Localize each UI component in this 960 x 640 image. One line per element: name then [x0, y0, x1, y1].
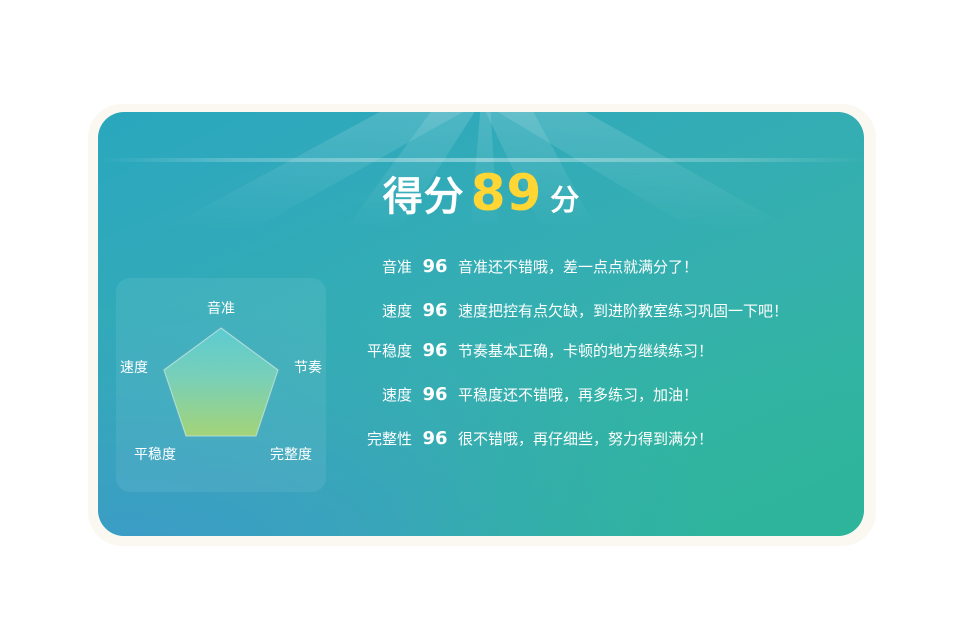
radar-axis-label-rhythm: 节奏 [294, 361, 322, 375]
metric-row: 音准 96 音准还不错哦，差一点点就满分了！ [350, 254, 850, 280]
metric-score: 96 [412, 254, 458, 280]
metric-score: 96 [412, 298, 458, 324]
metric-comment: 很不错哦，再仔细些，努力得到满分！ [458, 426, 850, 452]
metric-name: 完整性 [350, 426, 412, 452]
metric-score: 96 [412, 426, 458, 452]
radar-chart-panel: 音准 节奏 完整度 平稳度 速度 [116, 278, 326, 492]
metric-name: 速度 [350, 298, 412, 324]
metric-comment: 节奏基本正确，卡顿的地方继续练习！ [458, 338, 850, 364]
metric-comment: 速度把控有点欠缺，到进阶教室练习巩固一下吧！ [458, 298, 850, 324]
score-unit: 分 [550, 183, 579, 217]
score-card: 得分89分 [98, 112, 864, 536]
metric-row: 平稳度 96 节奏基本正确，卡顿的地方继续练习！ [350, 338, 850, 364]
metric-name: 速度 [350, 382, 412, 408]
radar-data-polygon [164, 328, 278, 436]
radar-axis-label-completeness: 完整度 [270, 448, 312, 462]
metric-row: 完整性 96 很不错哦，再仔细些，努力得到满分！ [350, 426, 850, 452]
score-value: 89 [471, 164, 543, 222]
radar-axis-label-stability: 平稳度 [134, 448, 176, 462]
metric-score: 96 [412, 338, 458, 364]
metric-list: 音准 96 音准还不错哦，差一点点就满分了！ 速度 96 速度把控有点欠缺，到进… [350, 254, 850, 452]
score-headline: 得分89分 [98, 168, 864, 218]
radar-axis-label-speed: 速度 [120, 361, 148, 375]
metric-comment: 音准还不错哦，差一点点就满分了！ [458, 254, 850, 280]
metric-row: 速度 96 平稳度还不错哦，再多练习，加油！ [350, 382, 850, 408]
radar-axis-label-pitch: 音准 [116, 302, 326, 316]
metric-row: 速度 96 速度把控有点欠缺，到进阶教室练习巩固一下吧！ [350, 298, 850, 324]
highlight-band-decoration [98, 158, 864, 162]
score-label: 得分 [383, 174, 465, 220]
metric-comment: 平稳度还不错哦，再多练习，加油！ [458, 382, 850, 408]
score-result-screen: 得分89分 [0, 0, 960, 640]
metric-score: 96 [412, 382, 458, 408]
metric-name: 平稳度 [350, 338, 412, 364]
metric-name: 音准 [350, 254, 412, 280]
